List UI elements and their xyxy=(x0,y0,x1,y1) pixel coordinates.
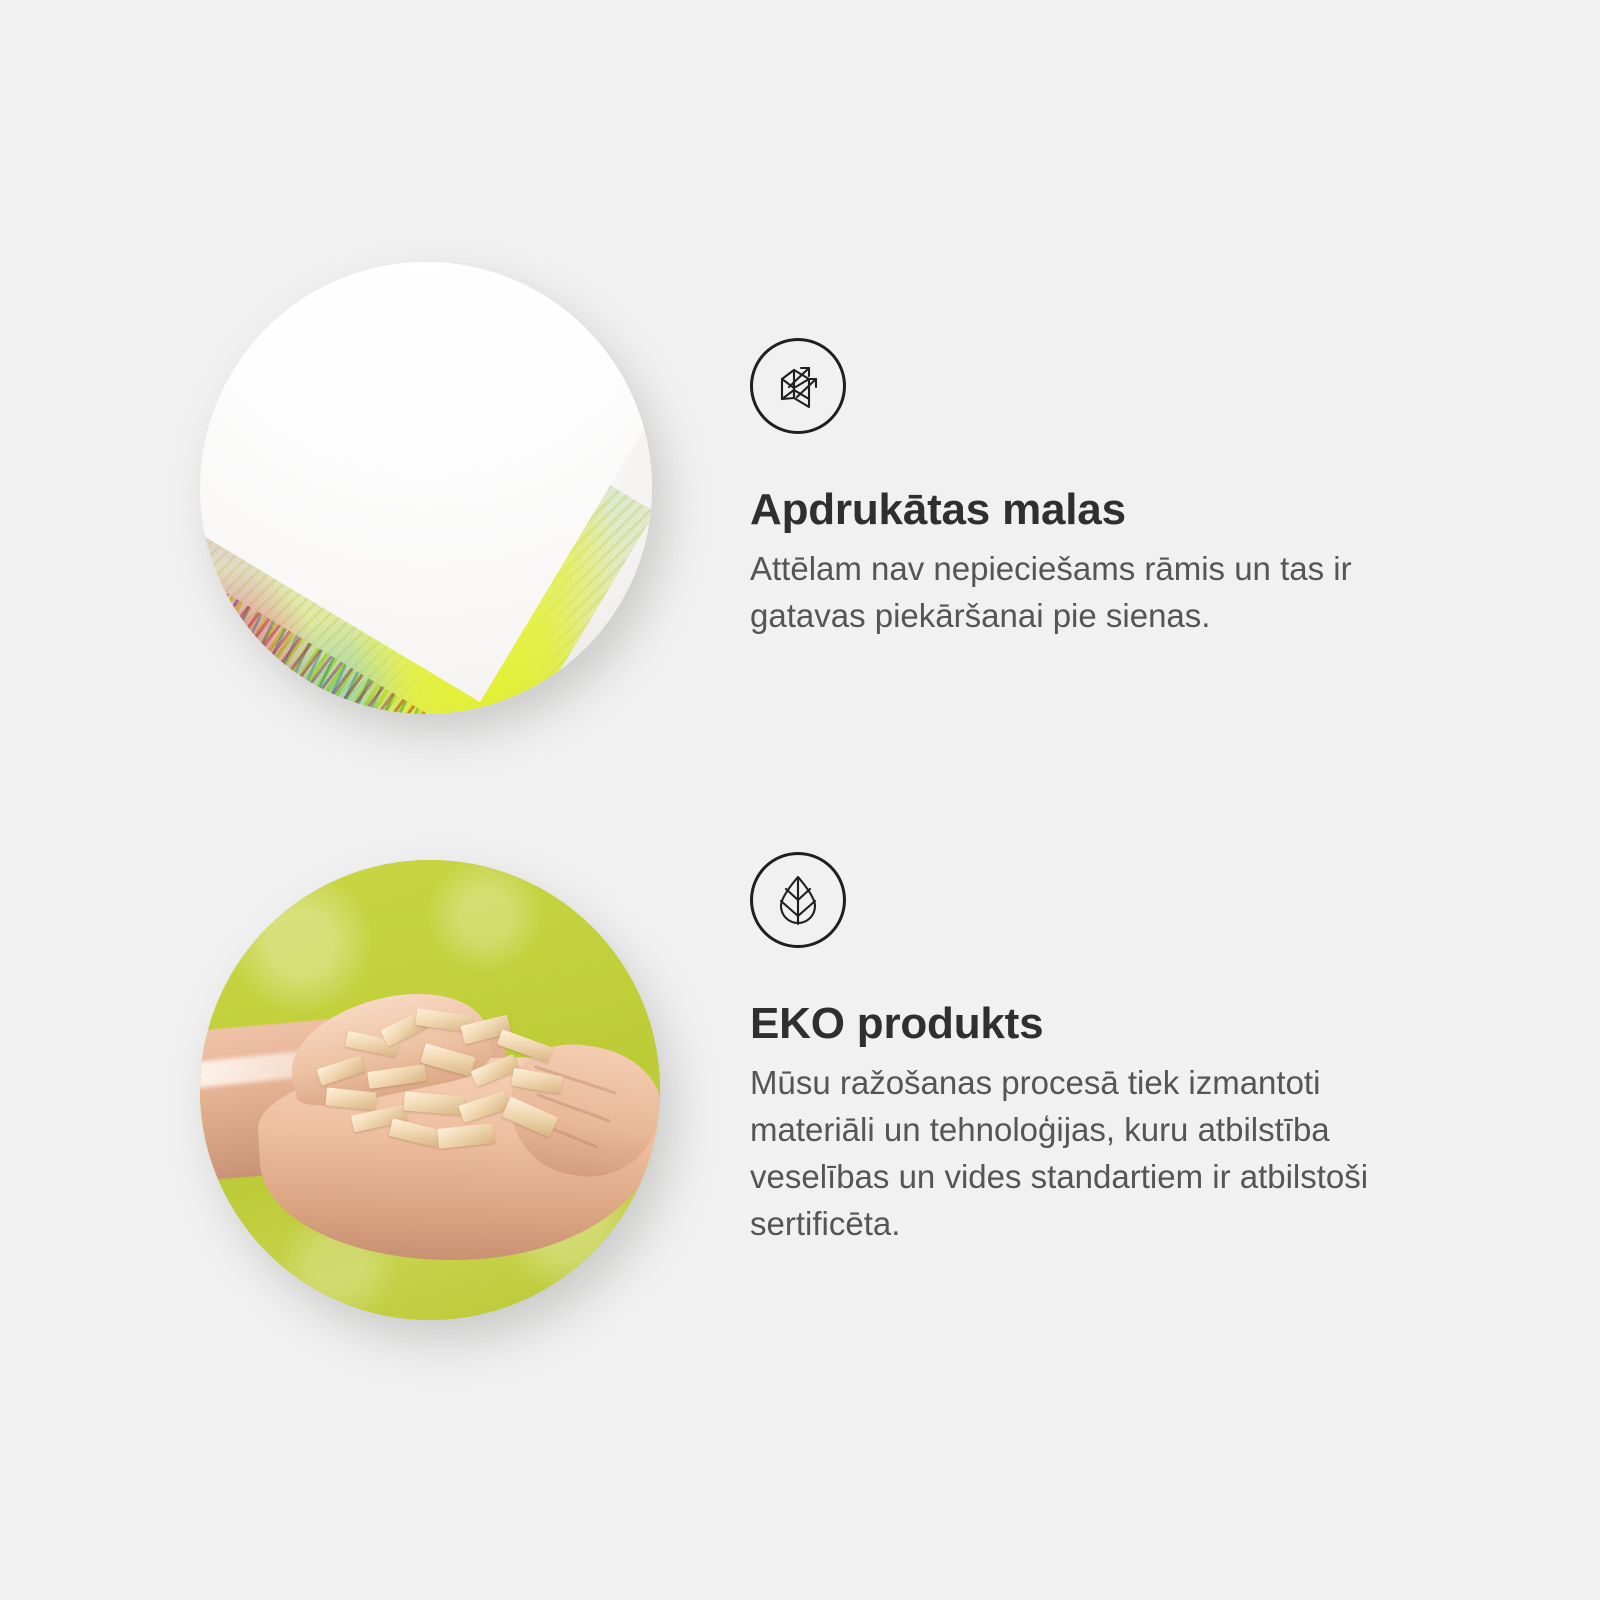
feature-2-text-column: EKO produkts Mūsu ražošanas procesā tiek… xyxy=(750,852,1490,1248)
feature-block-eco-product: EKO produkts Mūsu ražošanas procesā tiek… xyxy=(0,840,1600,1400)
canvas-scene xyxy=(200,262,652,714)
feature-1-title: Apdrukātas malas xyxy=(750,434,1490,534)
wood-chips-in-hands-photo xyxy=(200,860,660,1320)
wood-chips xyxy=(312,1006,580,1158)
leaf-icon xyxy=(750,852,846,948)
feature-block-printed-edges: Apdrukātas malas Attēlam nav nepieciešam… xyxy=(0,250,1600,810)
feature-2-title: EKO produkts xyxy=(750,948,1490,1048)
feature-1-text-column: Apdrukātas malas Attēlam nav nepieciešam… xyxy=(750,338,1490,640)
feature-highlights-page: Apdrukātas malas Attēlam nav nepieciešam… xyxy=(0,0,1600,1600)
canvas-corner-photo xyxy=(200,262,652,714)
feature-1-description: Attēlam nav nepieciešams rāmis un tas ir… xyxy=(750,546,1450,640)
feature-2-description: Mūsu ražošanas procesā tiek izmantoti ma… xyxy=(750,1060,1450,1247)
printed-edges-icon xyxy=(750,338,846,434)
eco-scene xyxy=(200,860,660,1320)
